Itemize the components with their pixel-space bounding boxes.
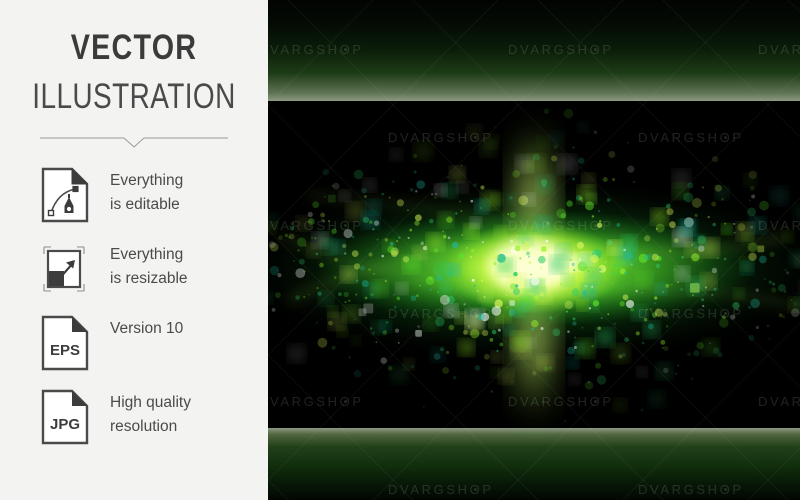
particle (577, 300, 587, 310)
particle (372, 228, 374, 230)
particle (531, 277, 539, 285)
list-item: Everything is editable (0, 163, 268, 237)
particle (482, 330, 488, 336)
particle (324, 196, 326, 198)
particle (392, 180, 395, 183)
particle (675, 267, 689, 281)
particle (352, 236, 355, 239)
particle (579, 259, 581, 261)
particle (328, 220, 330, 222)
particle (601, 317, 603, 319)
particle (607, 198, 611, 202)
particle (421, 242, 424, 245)
particle (694, 214, 697, 217)
particle (582, 291, 586, 295)
particle (677, 281, 679, 283)
particle (635, 290, 638, 293)
particle (627, 142, 629, 144)
particle (337, 326, 348, 337)
green-particle-burst-artwork: DVARGSHOPDVARGSHOPDVARGSHOPDVARGSHOPDVAR… (268, 0, 800, 500)
particle (644, 254, 650, 260)
particle (619, 301, 624, 306)
document-pen-icon (40, 167, 92, 223)
particle (535, 286, 552, 303)
particle (277, 273, 281, 277)
particle (516, 156, 533, 173)
particle (373, 273, 375, 275)
particle (650, 254, 652, 256)
particle (295, 268, 305, 278)
particle (734, 288, 744, 298)
particle (701, 273, 717, 289)
particle (633, 181, 635, 183)
particle (511, 332, 529, 350)
particle (599, 251, 602, 254)
particle (507, 213, 509, 215)
particle (750, 299, 760, 309)
particle (270, 243, 279, 252)
particle (715, 186, 728, 199)
particle (613, 262, 626, 275)
particle (749, 171, 757, 179)
particle (691, 378, 693, 380)
particle (328, 195, 336, 203)
particle (437, 291, 439, 293)
particle (332, 346, 336, 350)
particle (478, 313, 485, 320)
particle (473, 183, 476, 186)
particle (782, 231, 793, 242)
particle (356, 279, 359, 282)
particle (648, 323, 654, 329)
particle (408, 237, 410, 239)
particle (654, 302, 656, 304)
label-line-2: resolution (110, 415, 260, 439)
label-line-2: is editable (110, 193, 260, 217)
particle (713, 315, 715, 317)
particle (398, 342, 400, 344)
particle (510, 212, 516, 218)
particle (665, 284, 669, 288)
particle (531, 328, 534, 331)
particle (447, 176, 449, 178)
particle (630, 308, 634, 312)
particle (687, 182, 693, 188)
particle (308, 218, 315, 225)
particle (403, 256, 409, 262)
particle (612, 178, 615, 181)
particle (417, 325, 419, 327)
particle (534, 216, 552, 234)
particle (429, 219, 434, 224)
chevron-divider (40, 135, 228, 149)
particle (666, 204, 671, 209)
particle (463, 303, 465, 305)
particle (393, 294, 395, 296)
list-item-label: Everything is editable (110, 169, 260, 216)
particle (608, 151, 615, 158)
particle (646, 309, 648, 311)
particle (344, 229, 353, 238)
particle (562, 274, 574, 286)
particle (742, 233, 752, 243)
particle (530, 274, 532, 276)
particle (551, 155, 557, 161)
particle (567, 357, 579, 369)
particle (452, 242, 458, 248)
particle (435, 193, 437, 195)
particle (549, 316, 552, 319)
particle (687, 352, 691, 356)
particle (446, 351, 449, 354)
illustration-preview: VECTOR ILLUSTRATION (0, 0, 800, 500)
particle (636, 331, 640, 335)
particle (453, 376, 456, 379)
particle (642, 342, 644, 344)
particle (750, 186, 754, 190)
particle-burst-canvas (268, 0, 800, 500)
particle (794, 302, 797, 305)
particle (771, 187, 789, 205)
particle (427, 233, 444, 250)
jpg-file-icon: JPG (40, 389, 92, 445)
particle (334, 276, 337, 279)
particle (750, 217, 766, 233)
particle (748, 242, 758, 252)
particle (578, 186, 595, 203)
eps-file-icon: EPS (40, 315, 92, 371)
particle (442, 230, 444, 232)
particle (290, 226, 294, 230)
particle (411, 365, 414, 368)
particle (614, 323, 616, 325)
particle (334, 258, 338, 262)
particle (569, 259, 571, 261)
particle (712, 268, 717, 273)
particle (438, 212, 453, 227)
particle (390, 365, 409, 384)
particle (437, 276, 442, 281)
particle (510, 240, 513, 243)
particle (467, 125, 482, 140)
particle (460, 210, 462, 212)
particle (677, 365, 679, 367)
particle (298, 249, 300, 251)
particle (587, 270, 589, 272)
particle (396, 240, 398, 242)
particle (497, 257, 515, 275)
particle (414, 142, 433, 161)
particle (644, 235, 650, 241)
particle (769, 281, 772, 284)
particle (767, 325, 770, 328)
particle (637, 367, 647, 377)
particle (381, 357, 387, 363)
particle (597, 223, 602, 228)
particle (333, 183, 340, 190)
particle (515, 245, 521, 251)
particle (697, 235, 706, 244)
particle (716, 257, 718, 259)
particle (424, 316, 438, 330)
particle (430, 289, 432, 291)
particle (504, 325, 514, 335)
particle (415, 214, 422, 221)
particle (304, 244, 306, 246)
particle (542, 400, 545, 403)
particle (318, 338, 328, 348)
particle (779, 313, 783, 317)
particle (458, 253, 464, 259)
particle (721, 224, 731, 234)
particle (494, 126, 496, 128)
particle (724, 258, 727, 261)
particle (498, 329, 501, 332)
particle (595, 363, 601, 369)
particle (291, 222, 294, 225)
particle (624, 337, 629, 342)
particle (654, 296, 657, 299)
particle (572, 288, 580, 296)
particle (442, 183, 457, 198)
particle (675, 373, 677, 375)
particle (572, 178, 575, 181)
particle (413, 154, 417, 158)
particle (651, 209, 667, 225)
particle (528, 256, 530, 258)
particle (626, 300, 634, 308)
particle (322, 169, 329, 176)
particle (566, 200, 572, 206)
particle (285, 234, 288, 237)
particle (757, 245, 764, 252)
particle (404, 313, 406, 315)
particle (426, 276, 434, 284)
particle (594, 131, 597, 134)
particle (493, 262, 496, 265)
particle (564, 420, 566, 422)
particle (714, 288, 717, 291)
list-item: Everything is resizable (0, 237, 268, 311)
particle (538, 224, 540, 226)
particle (531, 320, 538, 327)
particle (506, 194, 516, 204)
particle (377, 239, 379, 241)
particle (394, 306, 397, 309)
particle (560, 283, 563, 286)
particle (695, 246, 698, 249)
particle (712, 156, 718, 162)
particle (450, 167, 465, 182)
particle (748, 253, 756, 261)
particle (415, 330, 422, 337)
particle (484, 296, 486, 298)
particle (369, 253, 373, 257)
particle (308, 294, 310, 296)
particle (644, 318, 647, 321)
particle (385, 280, 387, 282)
particle (702, 186, 704, 188)
particle (321, 219, 324, 222)
particle (293, 260, 295, 262)
particle (519, 257, 521, 259)
particle (344, 252, 346, 254)
particle (461, 234, 463, 236)
particle (730, 314, 735, 319)
particle (574, 337, 576, 339)
particle (278, 235, 283, 240)
particle (747, 207, 756, 216)
particle (565, 301, 573, 309)
particle (655, 309, 663, 317)
particle (431, 193, 433, 195)
particle (523, 194, 535, 206)
particle (397, 199, 404, 206)
eps-icon-text: EPS (50, 342, 80, 359)
particle (388, 366, 393, 371)
particle (490, 338, 494, 342)
particle (590, 255, 598, 263)
particle (541, 246, 546, 251)
particle (423, 246, 427, 250)
particle (732, 302, 739, 309)
list-item-label: Everything is resizable (110, 243, 260, 290)
particle (737, 223, 745, 231)
particle (707, 216, 709, 218)
particle (581, 200, 583, 202)
particle (674, 269, 676, 271)
particle (513, 272, 517, 276)
particle (494, 226, 506, 238)
particle (442, 367, 449, 374)
particle (544, 367, 548, 371)
particle (759, 201, 769, 211)
particle (770, 252, 775, 257)
particle (537, 137, 549, 149)
particle (510, 283, 516, 289)
particle (332, 185, 334, 187)
particle (573, 317, 576, 320)
particle (343, 306, 359, 322)
particle (596, 328, 614, 346)
particle (288, 344, 306, 362)
particle (692, 294, 694, 296)
particle (693, 350, 699, 356)
particle (593, 300, 599, 306)
particle (733, 223, 735, 225)
particle (443, 235, 447, 239)
page-title: VECTOR ILLUSTRATION (0, 30, 268, 114)
particle (679, 220, 694, 235)
particle (360, 266, 365, 271)
particle (543, 184, 546, 187)
particle (712, 223, 715, 226)
particle (354, 170, 363, 179)
particle (289, 225, 291, 227)
particle (457, 182, 468, 193)
particle (299, 259, 305, 265)
particle (577, 242, 584, 249)
particle (549, 366, 553, 370)
particle (480, 207, 482, 209)
particle (784, 291, 786, 293)
particle (640, 408, 643, 411)
particle (363, 178, 376, 191)
jpg-icon-text: JPG (50, 416, 80, 433)
particle (711, 294, 713, 296)
particle (320, 213, 325, 218)
particle (371, 280, 387, 296)
particle (319, 291, 334, 306)
particle (275, 292, 281, 298)
particle (484, 354, 490, 360)
particle (372, 331, 375, 334)
particle (553, 329, 561, 337)
particle (759, 256, 767, 264)
particle (623, 294, 629, 300)
particle (415, 190, 417, 192)
label-line-1: Version 10 (110, 317, 260, 341)
particle (597, 375, 606, 384)
particle (532, 371, 536, 375)
particle (434, 197, 436, 199)
label-line-1: Everything (110, 243, 260, 267)
particle (368, 268, 371, 271)
particle (338, 292, 342, 296)
particle (348, 300, 351, 303)
particle (362, 212, 379, 229)
particle (491, 390, 494, 393)
particle (550, 131, 564, 145)
particle (506, 294, 508, 296)
particle (363, 303, 373, 313)
particle (480, 140, 496, 156)
particle (517, 289, 528, 300)
particle (440, 347, 444, 351)
particle (458, 340, 474, 356)
particle (339, 190, 350, 201)
particle (351, 336, 361, 346)
particle (576, 339, 594, 357)
particle (660, 340, 665, 345)
list-item-label: Version 10 (110, 317, 260, 341)
particle (352, 250, 359, 257)
particle (530, 351, 532, 353)
particle (331, 240, 344, 253)
title-line-secondary: ILLUSTRATION (27, 79, 241, 114)
particle (529, 233, 541, 245)
list-item: JPG High quality resolution (0, 385, 268, 459)
particle (349, 356, 351, 358)
particle (702, 339, 719, 356)
particle (717, 352, 722, 357)
particle (749, 200, 751, 202)
particle (631, 263, 633, 265)
particle (344, 292, 349, 297)
particle (434, 248, 438, 252)
particle (544, 109, 549, 114)
particle (460, 164, 462, 166)
particle (471, 249, 474, 252)
particle (669, 250, 672, 253)
particle (648, 391, 665, 408)
particle (662, 347, 664, 349)
particle (681, 256, 684, 259)
particle (599, 269, 601, 271)
particle (578, 158, 584, 164)
particle (599, 220, 601, 222)
particle (409, 229, 412, 232)
